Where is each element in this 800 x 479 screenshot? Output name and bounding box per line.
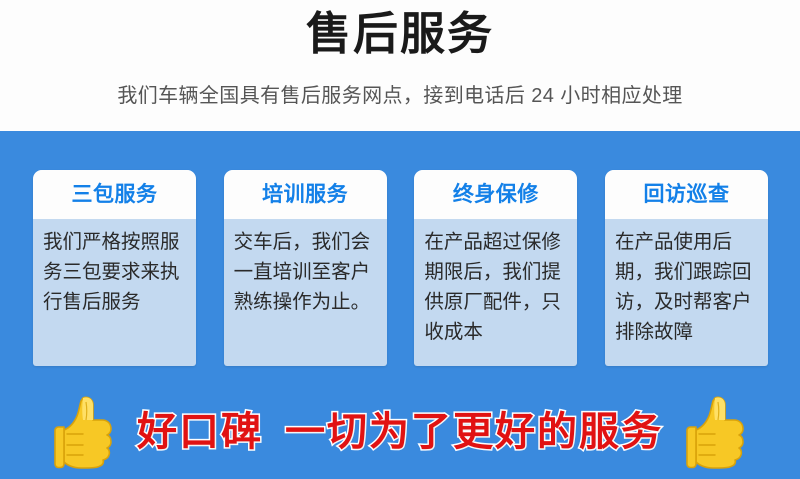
service-card[interactable]: 培训服务 交车后，我们会一直培训至客户熟练操作为止。 <box>224 170 387 366</box>
page-subtitle: 我们车辆全国具有售后服务网点，接到电话后 24 小时相应处理 <box>0 82 800 110</box>
service-card-header: 回访巡查 <box>605 170 768 219</box>
promo-banner: 售后服务 我们车辆全国具有售后服务网点，接到电话后 24 小时相应处理 三包服务… <box>0 0 800 479</box>
service-card-text: 在产品超过保修期限后，我们提供原厂配件，只收成本 <box>424 227 568 347</box>
service-card-title: 培训服务 <box>262 183 348 207</box>
service-card-title: 三包服务 <box>72 183 158 207</box>
service-card-body: 在产品超过保修期限后，我们提供原厂配件，只收成本 <box>414 219 577 366</box>
service-card-header: 培训服务 <box>224 170 387 219</box>
service-card[interactable]: 三包服务 我们严格按照服务三包要求来执行售后服务 <box>33 170 196 366</box>
service-card-header: 终身保修 <box>414 170 577 219</box>
service-card-body: 交车后，我们会一直培训至客户熟练操作为止。 <box>224 219 387 366</box>
service-card-body: 我们严格按照服务三包要求来执行售后服务 <box>33 219 196 366</box>
service-card-body: 在产品使用后期，我们跟踪回访，及时帮客户排除故障 <box>605 219 768 366</box>
service-card[interactable]: 回访巡查 在产品使用后期，我们跟踪回访，及时帮客户排除故障 <box>605 170 768 366</box>
slogan-text: 好口碑一切为了更好的服务 <box>137 405 663 459</box>
header-section: 售后服务 我们车辆全国具有售后服务网点，接到电话后 24 小时相应处理 <box>0 0 800 131</box>
thumbs-up-icon <box>53 394 115 470</box>
slogan-row: 好口碑一切为了更好的服务 <box>0 385 800 479</box>
service-card-list: 三包服务 我们严格按照服务三包要求来执行售后服务 培训服务 交车后，我们会一直培… <box>33 170 768 366</box>
service-card-text: 在产品使用后期，我们跟踪回访，及时帮客户排除故障 <box>615 227 759 347</box>
service-card-header: 三包服务 <box>33 170 196 219</box>
thumbs-up-icon <box>685 394 747 470</box>
service-card[interactable]: 终身保修 在产品超过保修期限后，我们提供原厂配件，只收成本 <box>414 170 577 366</box>
service-card-title: 终身保修 <box>453 183 539 207</box>
service-card-title: 回访巡查 <box>643 183 729 207</box>
blue-content-panel: 三包服务 我们严格按照服务三包要求来执行售后服务 培训服务 交车后，我们会一直培… <box>0 131 800 479</box>
service-card-text: 交车后，我们会一直培训至客户熟练操作为止。 <box>234 227 378 317</box>
slogan-right-text: 一切为了更好的服务 <box>285 410 663 454</box>
service-card-text: 我们严格按照服务三包要求来执行售后服务 <box>43 227 187 317</box>
page-title: 售后服务 <box>0 5 800 63</box>
slogan-left-text: 好口碑 <box>137 410 263 454</box>
